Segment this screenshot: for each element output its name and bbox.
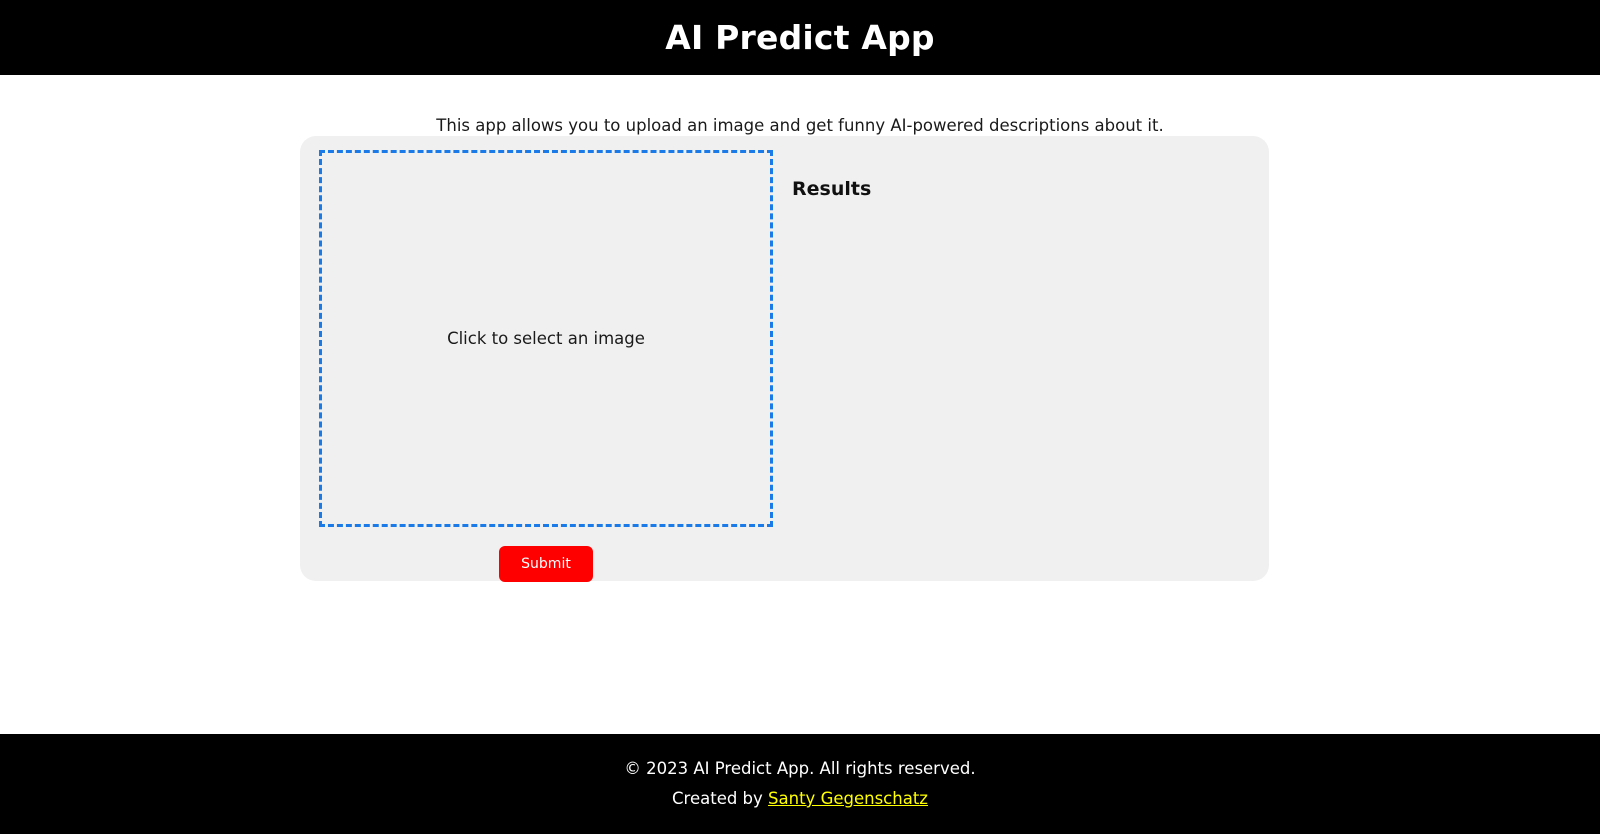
submit-button[interactable]: Submit bbox=[499, 546, 593, 582]
footer-copyright: © 2023 AI Predict App. All rights reserv… bbox=[624, 759, 975, 779]
image-dropzone[interactable]: Click to select an image bbox=[319, 150, 773, 527]
author-link[interactable]: Santy Gegenschatz bbox=[768, 789, 928, 808]
results-title: Results bbox=[792, 150, 1250, 199]
footer-credit-prefix: Created by bbox=[672, 789, 768, 808]
site-header: AI Predict App bbox=[0, 0, 1600, 75]
app-page: AI Predict App This app allows you to up… bbox=[0, 0, 1600, 834]
card-inner: Click to select an image Submit Results bbox=[300, 136, 1269, 581]
dropzone-label: Click to select an image bbox=[447, 328, 645, 349]
app-description: This app allows you to upload an image a… bbox=[0, 115, 1600, 137]
results-body bbox=[792, 213, 1250, 223]
page-title: AI Predict App bbox=[665, 21, 935, 54]
upload-column: Click to select an image Submit bbox=[319, 150, 775, 570]
submit-row: Submit bbox=[319, 546, 773, 582]
results-column: Results bbox=[792, 150, 1250, 570]
site-footer: © 2023 AI Predict App. All rights reserv… bbox=[0, 734, 1600, 834]
main-card: Click to select an image Submit Results bbox=[300, 136, 1269, 581]
footer-credit: Created by Santy Gegenschatz bbox=[672, 789, 928, 809]
